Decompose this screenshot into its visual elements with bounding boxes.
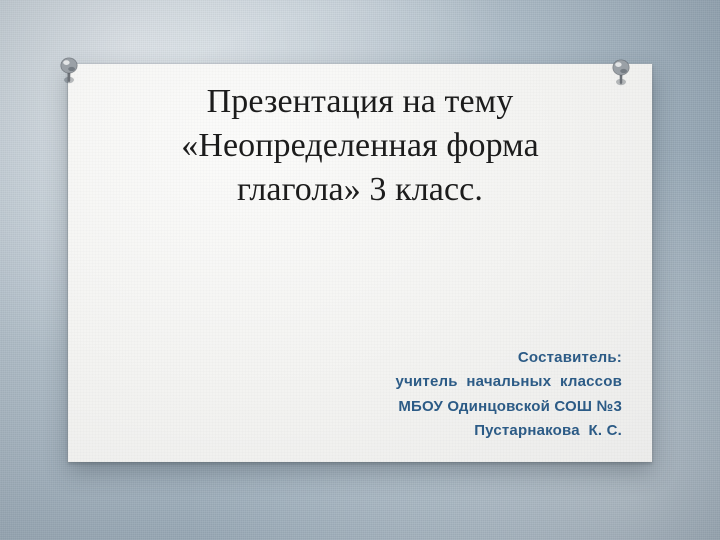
author-line-3: МБОУ Одинцовской СОШ №3 <box>192 395 622 419</box>
paper-sheet: Презентация на тему «Неопределенная форм… <box>68 64 652 462</box>
page-title: Презентация на тему «Неопределенная форм… <box>102 80 618 213</box>
author-line-1: Составитель: <box>192 346 622 370</box>
author-block: Составитель: учитель начальных классов М… <box>192 346 622 443</box>
title-line-2: «Неопределенная форма <box>102 124 618 168</box>
title-line-1: Презентация на тему <box>102 80 618 124</box>
author-line-4: Пустарнакова К. С. <box>192 419 622 443</box>
presentation-slide: Презентация на тему «Неопределенная форм… <box>0 0 720 540</box>
author-line-2: учитель начальных классов <box>192 370 622 394</box>
title-line-3: глагола» 3 класс. <box>102 168 618 212</box>
